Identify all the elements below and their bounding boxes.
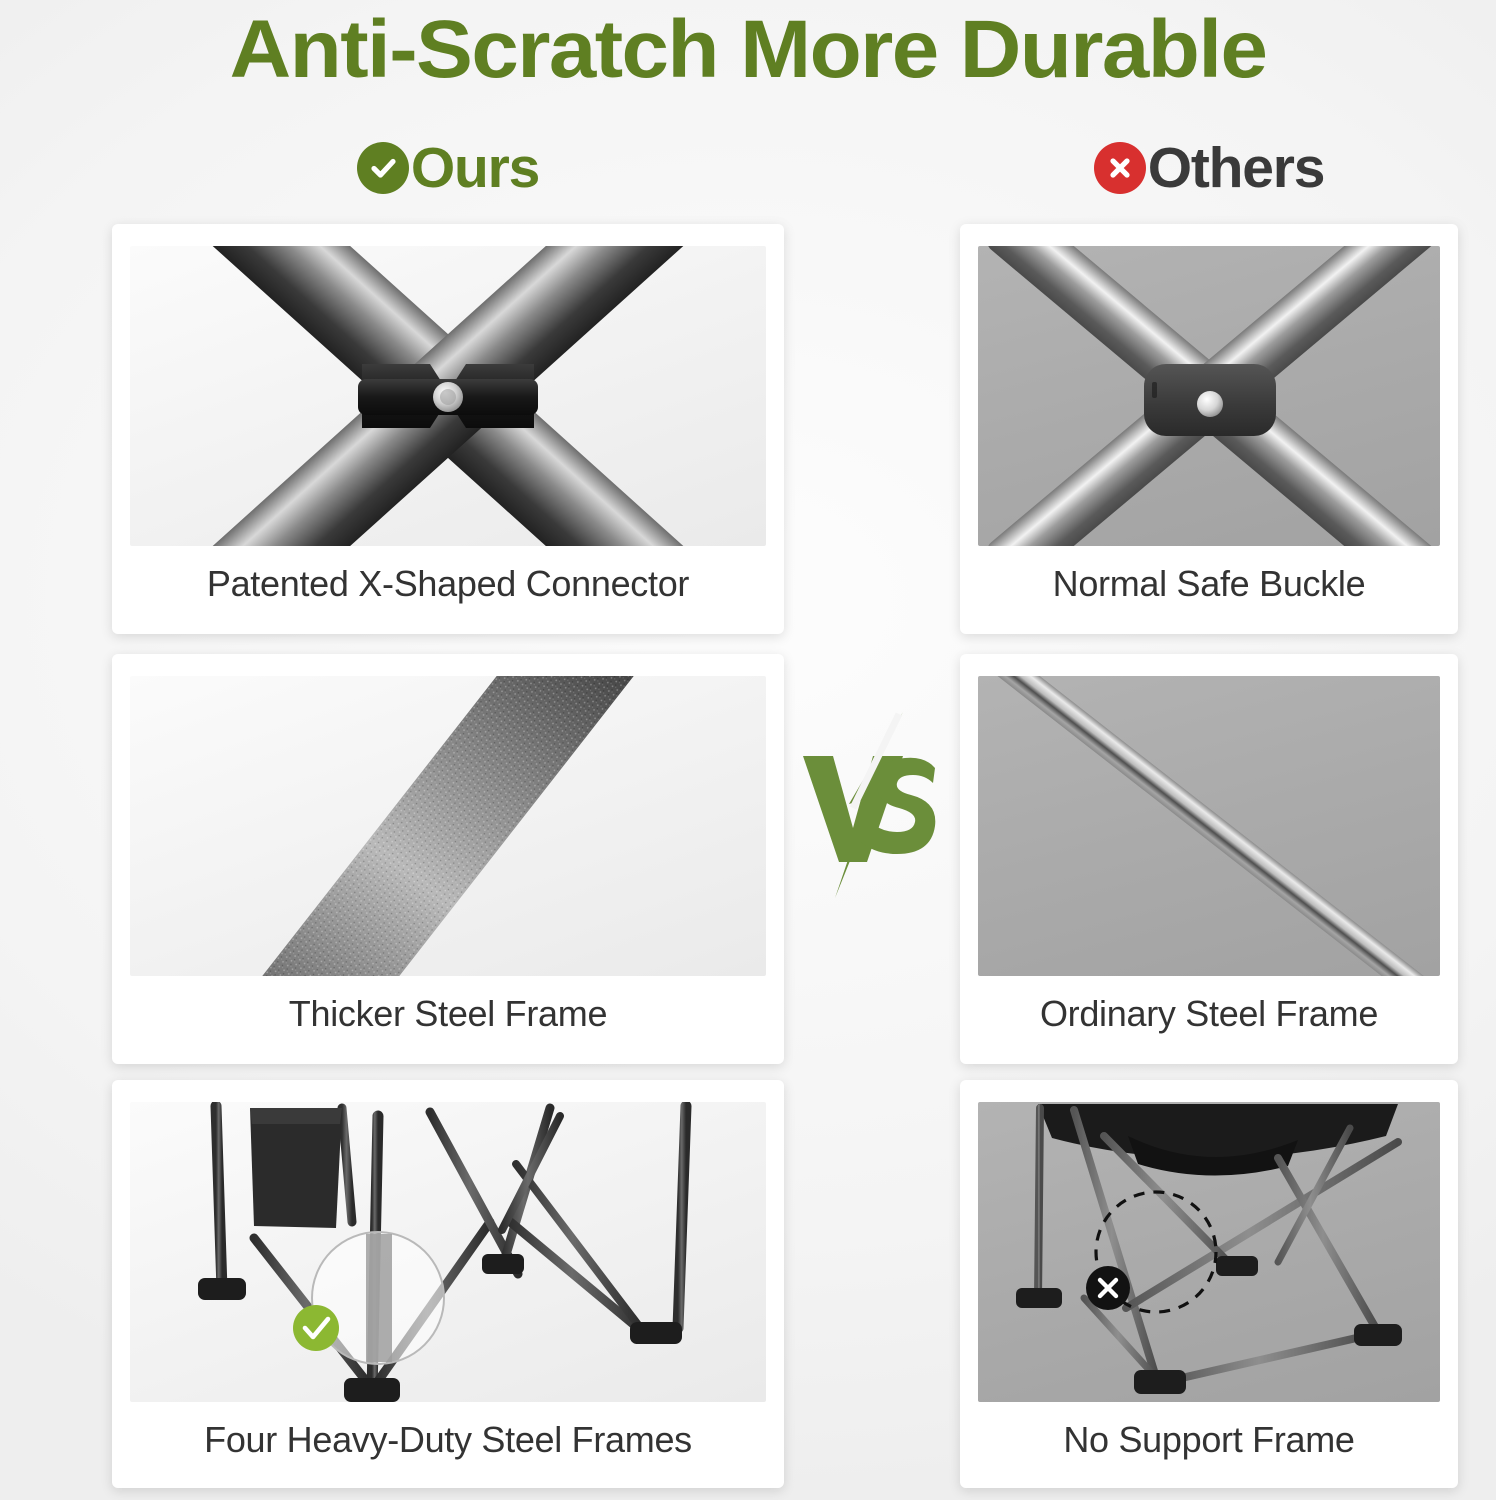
card-ours-row3: Four Heavy-Duty Steel Frames: [112, 1080, 784, 1488]
green-check-marker: [293, 1305, 339, 1351]
vs-divider: [795, 712, 955, 898]
card-others-row3: No Support Frame: [960, 1080, 1458, 1488]
caption-others-row2: Ordinary Steel Frame: [960, 992, 1458, 1036]
column-header-others: Others: [960, 132, 1458, 204]
caption-ours-row3: Four Heavy-Duty Steel Frames: [112, 1418, 784, 1462]
column-header-ours: Ours: [112, 132, 784, 204]
x-shaped-connector-photo: [130, 246, 766, 546]
comparison-infographic: Anti-Scratch More Durable Ours Others: [0, 0, 1496, 1500]
normal-safe-buckle-photo: [978, 246, 1440, 546]
card-ours-row1: Patented X-Shaped Connector: [112, 224, 784, 634]
caption-others-row3: No Support Frame: [960, 1418, 1458, 1462]
card-ours-row2: Thicker Steel Frame: [112, 654, 784, 1064]
page-title: Anti-Scratch More Durable: [0, 2, 1496, 98]
column-label-ours: Ours: [411, 138, 539, 198]
chair-base-no-support-photo: [978, 1102, 1440, 1402]
card-others-row1: Normal Safe Buckle: [960, 224, 1458, 634]
card-others-row2: Ordinary Steel Frame: [960, 654, 1458, 1064]
caption-ours-row2: Thicker Steel Frame: [112, 992, 784, 1036]
caption-ours-row1: Patented X-Shaped Connector: [112, 562, 784, 606]
caption-others-row1: Normal Safe Buckle: [960, 562, 1458, 606]
thick-steel-tube-photo: [130, 676, 766, 976]
check-circle-icon: [357, 142, 409, 194]
black-x-marker: [1086, 1266, 1130, 1310]
chair-base-four-frames-photo: [130, 1102, 766, 1402]
x-circle-icon: [1094, 142, 1146, 194]
column-label-others: Others: [1148, 138, 1325, 198]
thin-steel-tube-photo: [978, 676, 1440, 976]
